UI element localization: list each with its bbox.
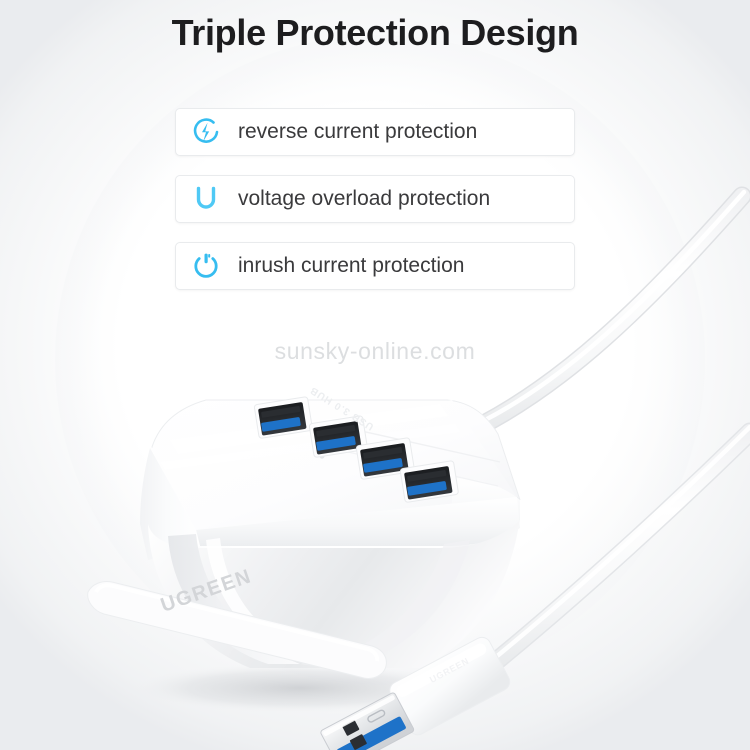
usb-a-connector	[316, 634, 513, 750]
product-illustration: UGREEN USB 3.0 HUB UGREEN	[0, 0, 750, 750]
product-marketing-image: Triple Protection Design reverse current…	[0, 0, 750, 750]
